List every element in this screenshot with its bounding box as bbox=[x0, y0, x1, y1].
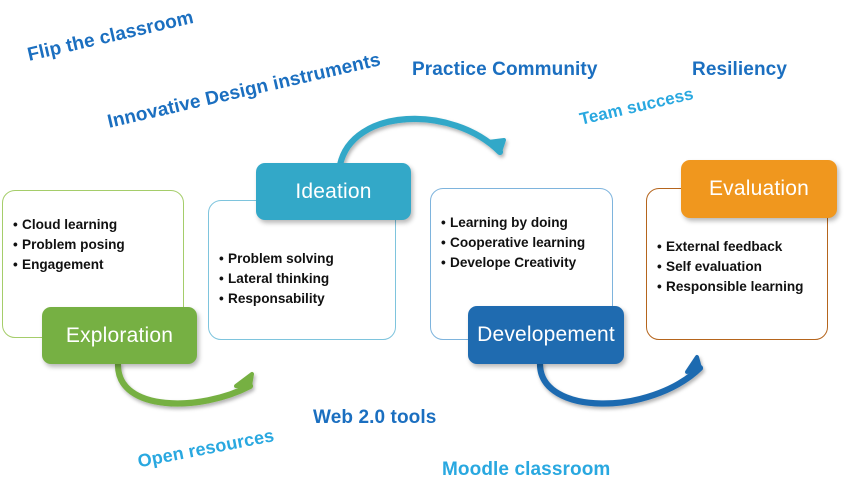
stage-chip-evaluation[interactable]: Evaluation bbox=[681, 160, 837, 218]
keyword-open-resources: Open resources bbox=[136, 425, 276, 472]
list-item: Problem solving bbox=[219, 249, 389, 269]
bullet-list-developement: Learning by doingCooperative learningDev… bbox=[441, 213, 606, 273]
diagram-canvas: Cloud learningProblem posingEngagementEx… bbox=[0, 0, 850, 501]
keyword-moodle-classroom: Moodle classroom bbox=[442, 459, 610, 481]
list-item: Responsible learning bbox=[657, 277, 821, 297]
keyword-resiliency: Resiliency bbox=[692, 59, 787, 81]
bullet-list-ideation: Problem solvingLateral thinkingResponsab… bbox=[219, 249, 389, 309]
keyword-web-20-tools: Web 2.0 tools bbox=[313, 407, 436, 429]
stage-chip-ideation[interactable]: Ideation bbox=[256, 163, 411, 220]
stage-chip-label: Ideation bbox=[295, 180, 371, 204]
list-item: Cloud learning bbox=[13, 215, 177, 235]
stage-chip-label: Developement bbox=[477, 323, 615, 347]
bullet-list-evaluation: External feedbackSelf evaluationResponsi… bbox=[657, 237, 821, 297]
arrow-exploration-to-ideation bbox=[118, 365, 252, 403]
stage-chip-label: Evaluation bbox=[709, 177, 809, 201]
list-item: Problem posing bbox=[13, 235, 177, 255]
list-item: Develope Creativity bbox=[441, 253, 606, 273]
list-item: Lateral thinking bbox=[219, 269, 389, 289]
keyword-practice-community: Practice Community bbox=[412, 59, 598, 81]
card-ideation: Problem solvingLateral thinkingResponsab… bbox=[208, 200, 396, 340]
stage-chip-label: Exploration bbox=[66, 324, 173, 348]
keyword-innovative-design: Innovative Design instruments bbox=[106, 49, 383, 133]
keyword-flip-the-classroom: Flip the classroom bbox=[26, 7, 196, 67]
list-item: Engagement bbox=[13, 255, 177, 275]
stage-chip-developement[interactable]: Developement bbox=[468, 306, 624, 364]
bullet-list-exploration: Cloud learningProblem posingEngagement bbox=[13, 215, 177, 275]
list-item: External feedback bbox=[657, 237, 821, 257]
arrow-ideation-to-developement bbox=[340, 119, 504, 165]
list-item: Responsability bbox=[219, 289, 389, 309]
stage-chip-exploration[interactable]: Exploration bbox=[42, 307, 197, 364]
keyword-team-success: Team success bbox=[578, 84, 696, 130]
list-item: Self evaluation bbox=[657, 257, 821, 277]
list-item: Cooperative learning bbox=[441, 233, 606, 253]
list-item: Learning by doing bbox=[441, 213, 606, 233]
